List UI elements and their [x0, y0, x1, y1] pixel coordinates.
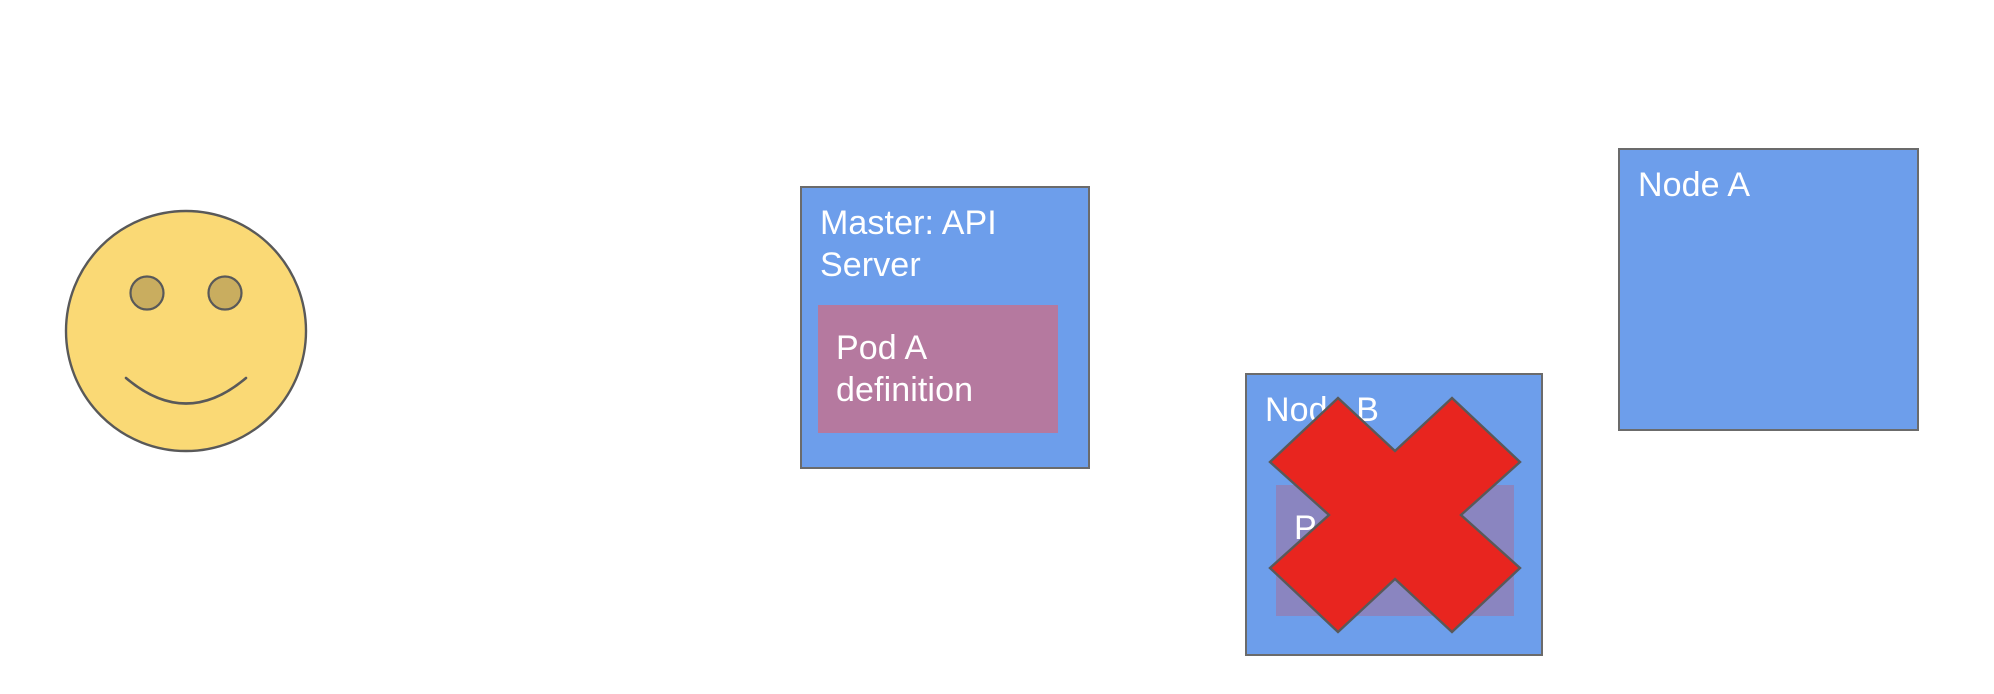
- master-api-server-label: Master: API Server: [820, 202, 1070, 286]
- smiley-left-eye: [131, 277, 164, 310]
- red-cross-shape: [1270, 398, 1520, 632]
- smiley-right-eye: [209, 277, 242, 310]
- master-api-server-box[interactable]: Master: API Server Pod A definition: [800, 186, 1090, 469]
- smiley-face-icon[interactable]: [58, 203, 314, 459]
- red-cross-svg: [1262, 390, 1528, 640]
- pod-a-definition-box[interactable]: Pod A definition: [818, 305, 1058, 433]
- red-cross-icon: [1262, 390, 1528, 640]
- diagram-canvas: Master: API Server Pod A definition Node…: [0, 0, 1994, 694]
- node-a-box[interactable]: Node A: [1618, 148, 1919, 431]
- node-a-label: Node A: [1638, 164, 1750, 206]
- pod-a-definition-label: Pod A definition: [836, 327, 1046, 411]
- smiley-face-svg: [58, 203, 314, 459]
- smiley-head: [66, 211, 306, 451]
